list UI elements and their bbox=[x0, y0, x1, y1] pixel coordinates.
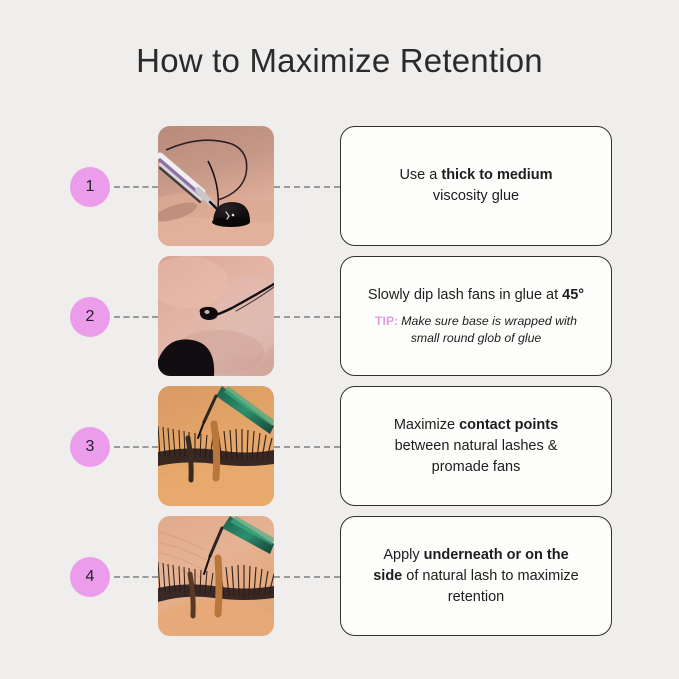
step-text-line: retention bbox=[448, 587, 504, 608]
step-card-2: Slowly dip lash fans in glue at 45° TIP:… bbox=[340, 256, 612, 376]
contact-points-lashes-photo bbox=[158, 386, 274, 506]
glue-drop-and-tweezers-photo bbox=[158, 126, 274, 246]
step-text-line: Apply underneath or on the bbox=[383, 545, 568, 566]
step-number-badge-1: 1 bbox=[70, 167, 110, 207]
tip-label: TIP: bbox=[375, 314, 398, 328]
connector-dash-left-4 bbox=[114, 576, 158, 578]
underneath-placement-photo bbox=[158, 516, 274, 636]
infographic-root: How to Maximize Retention 1 bbox=[0, 0, 679, 679]
step-number-badge-2: 2 bbox=[70, 297, 110, 337]
step-row-2: 2 bbox=[0, 256, 679, 376]
step-row-4: 4 bbox=[0, 516, 679, 636]
connector-dash-right-4 bbox=[274, 576, 340, 578]
step-row-3: 3 bbox=[0, 386, 679, 506]
step-text-line: Use a thick to medium bbox=[399, 165, 552, 186]
step-text-line: Slowly dip lash fans in glue at 45° bbox=[368, 285, 584, 306]
tip-text: TIP:Make sure base is wrapped with bbox=[375, 313, 577, 330]
connector-dash-right-2 bbox=[274, 316, 340, 318]
connector-dash-left-3 bbox=[114, 446, 158, 448]
connector-dash-left-1 bbox=[114, 186, 158, 188]
step-text-line: viscosity glue bbox=[433, 186, 519, 207]
connector-dash-right-3 bbox=[274, 446, 340, 448]
step-card-3: Maximize contact points between natural … bbox=[340, 386, 612, 506]
step-text-line: between natural lashes & bbox=[395, 436, 558, 457]
page-title: How to Maximize Retention bbox=[0, 42, 679, 80]
step-text-line: Maximize contact points bbox=[394, 415, 558, 436]
step-card-1: Use a thick to medium viscosity glue bbox=[340, 126, 612, 246]
lash-fan-dipping-photo bbox=[158, 256, 274, 376]
step-row-1: 1 bbox=[0, 126, 679, 246]
connector-dash-left-2 bbox=[114, 316, 158, 318]
step-card-4: Apply underneath or on the side of natur… bbox=[340, 516, 612, 636]
step-text-line: promade fans bbox=[432, 457, 521, 478]
connector-dash-right-1 bbox=[274, 186, 340, 188]
step-text-line: side of natural lash to maximize bbox=[373, 566, 579, 587]
step-number-badge-4: 4 bbox=[70, 557, 110, 597]
step-number-badge-3: 3 bbox=[70, 427, 110, 467]
tip-text-line-2: small round glob of glue bbox=[411, 330, 542, 347]
